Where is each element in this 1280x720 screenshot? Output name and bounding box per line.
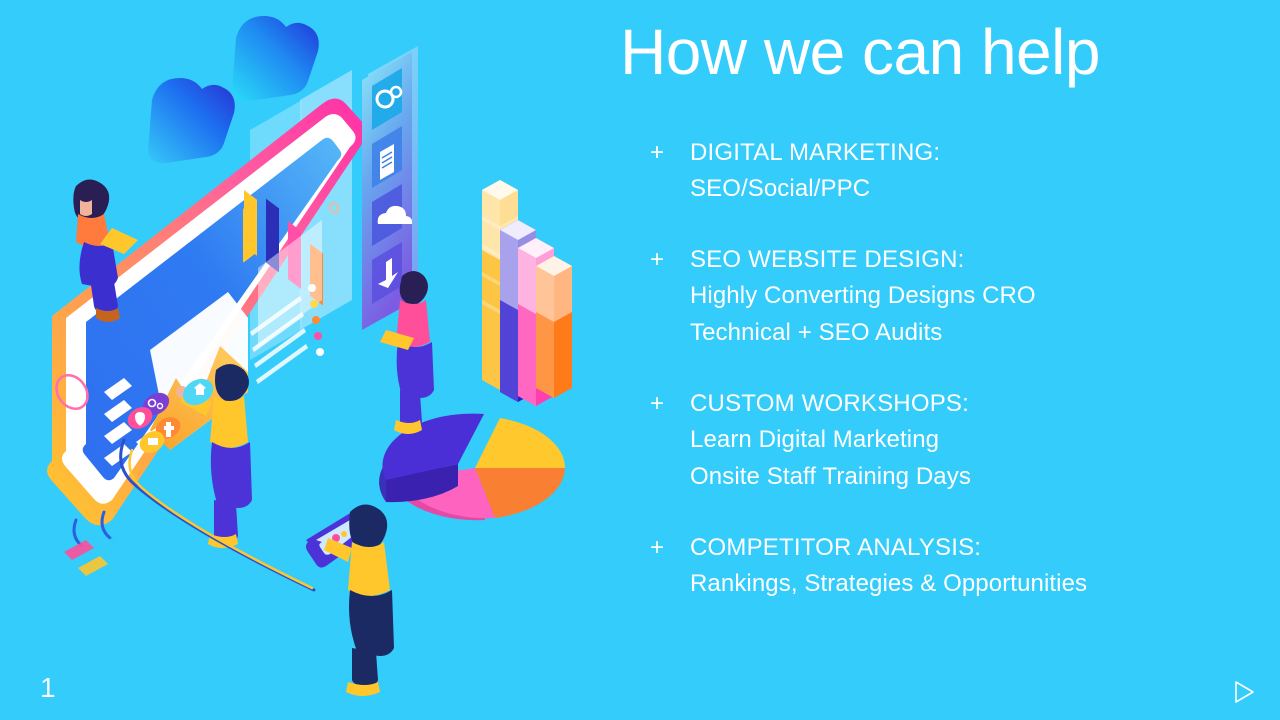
slide-number: 1 [40, 674, 56, 702]
cloud-icon [372, 184, 412, 246]
plus-icon: + [650, 387, 674, 421]
person-sitting-with-laptop [73, 179, 138, 322]
social-bubbles [124, 374, 218, 458]
person-standing-pink [380, 271, 434, 434]
list-item-heading: SEO WEBSITE DESIGN: [690, 243, 1250, 277]
person-holding-tablet [306, 504, 394, 696]
screen-panel-light [258, 220, 322, 348]
camera-dot [328, 202, 340, 215]
person-touching-screen [176, 364, 252, 548]
presentation-slide: How we can help + DIGITAL MARKETING: SEO… [0, 0, 1280, 720]
background-panel [250, 70, 352, 360]
page-title: How we can help [560, 20, 1160, 84]
next-slide-button[interactable] [1222, 672, 1266, 712]
bar-stack-purple [500, 220, 536, 402]
screen-mini-bars [243, 199, 256, 263]
social-bubble-yellow [136, 427, 169, 457]
play-triangle-icon [1231, 678, 1257, 706]
screen-list-rows [250, 284, 324, 384]
list-item-detail: Learn Digital Marketing [690, 421, 1250, 458]
connector-lines [121, 440, 314, 590]
bar-stack-orange [536, 256, 572, 398]
social-bubble-pink [124, 403, 157, 433]
bar-stack-group [482, 180, 572, 406]
home-button [50, 369, 94, 415]
plus-icon: + [650, 136, 674, 170]
tablet-device [38, 89, 368, 533]
plus-icon: + [650, 531, 674, 565]
list-item-heading: DIGITAL MARKETING: [690, 136, 1250, 170]
cloud-front [148, 78, 235, 163]
list-item-detail: Rankings, Strategies & Opportunities [690, 565, 1250, 602]
icon-panel [362, 46, 418, 330]
decorative-arrowheads [80, 536, 116, 553]
list-item-detail: Highly Converting Designs CRO [690, 277, 1250, 314]
pie-chart [379, 414, 565, 521]
screen-area-chart [150, 292, 248, 450]
list-item[interactable]: + SEO WEBSITE DESIGN: Highly Converting … [650, 243, 1250, 351]
list-item-detail: SEO/Social/PPC [690, 170, 1250, 207]
social-bubble-orange [152, 413, 185, 443]
list-item[interactable]: + COMPETITOR ANALYSIS: Rankings, Strateg… [650, 531, 1250, 602]
social-bubble-cyan [178, 374, 218, 411]
bar-stack-pink [518, 238, 554, 406]
download-icon [372, 242, 402, 304]
bar-stack-yellow [482, 180, 518, 390]
list-item-detail: Onsite Staff Training Days [690, 458, 1250, 495]
plus-icon: + [650, 243, 674, 277]
held-tablet [306, 510, 372, 567]
list-item-heading: COMPETITOR ANALYSIS: [690, 531, 1250, 565]
list-item-detail: Technical + SEO Audits [690, 314, 1250, 351]
decorative-shapes [64, 540, 108, 576]
list-item[interactable]: + CUSTOM WORKSHOPS: Learn Digital Market… [650, 387, 1250, 495]
decorative-arrows [74, 512, 110, 546]
cloud-back [232, 16, 319, 101]
services-list: + DIGITAL MARKETING: SEO/Social/PPC + SE… [650, 136, 1250, 638]
list-item-heading: CUSTOM WORKSHOPS: [690, 387, 1250, 421]
screen-checklist [104, 378, 164, 466]
list-item[interactable]: + DIGITAL MARKETING: SEO/Social/PPC [650, 136, 1250, 207]
document-icon [372, 126, 402, 188]
isometric-digital-marketing-illustration [0, 0, 620, 720]
settings-gears-icon [372, 68, 402, 130]
screen-mini-bar-group [244, 182, 323, 306]
social-bubble-purple [139, 388, 173, 419]
